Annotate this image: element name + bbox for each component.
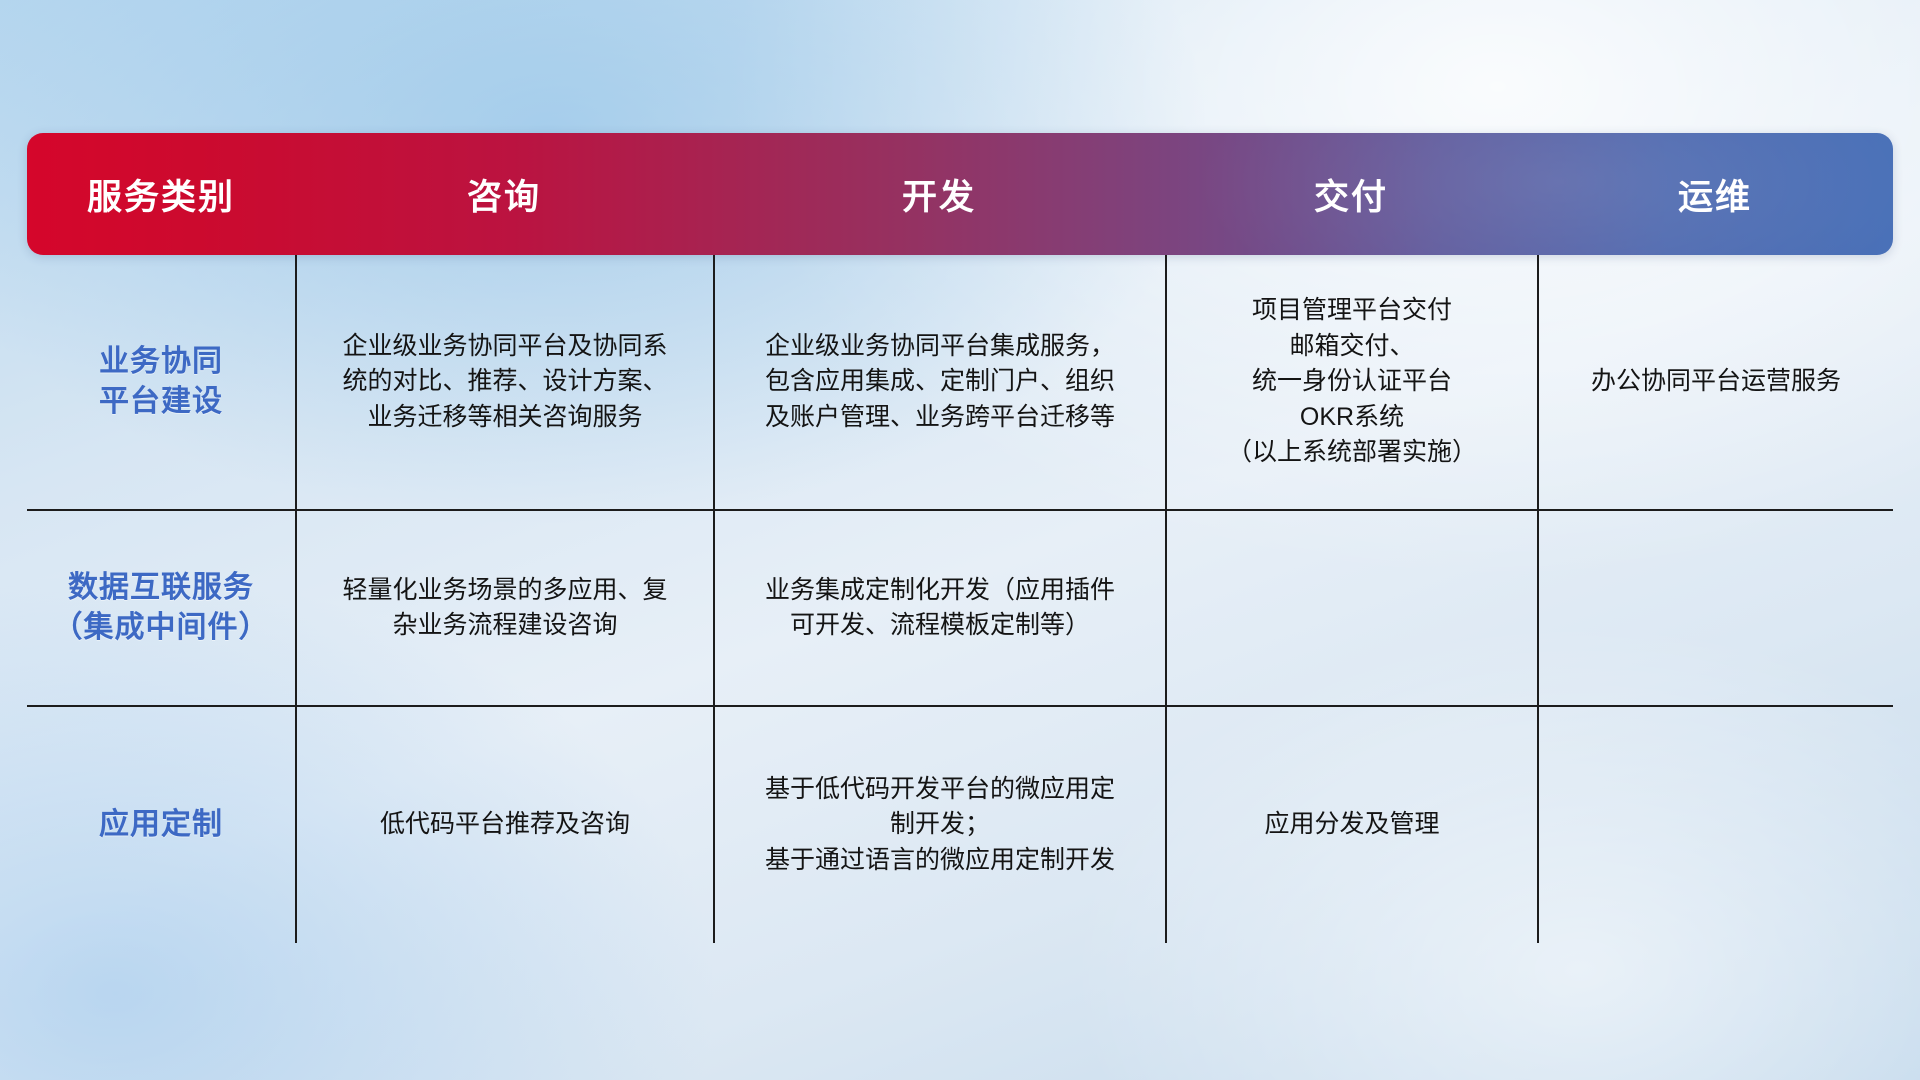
cell-text: 低代码平台推荐及咨询 [380, 807, 630, 843]
row-label-cell: 应用定制 [27, 707, 295, 943]
table-row: 业务协同 平台建设 企业级业务协同平台及协同系 统的对比、推荐、设计方案、 业务… [27, 255, 1893, 509]
header-label: 交付 [1314, 169, 1388, 220]
cell-operations [1537, 511, 1893, 705]
table-header-development: 开发 [713, 133, 1165, 255]
cell-delivery: 项目管理平台交付 邮箱交付、 统一身份认证平台 OKR系统 （以上系统部署实施） [1165, 255, 1537, 509]
cell-text: 轻量化业务场景的多应用、复 杂业务流程建设咨询 [342, 573, 667, 644]
header-label: 运维 [1678, 169, 1752, 220]
table-header-row: 服务类别 咨询 开发 交付 运维 [27, 133, 1893, 255]
cell-development: 业务集成定制化开发（应用插件 可开发、流程模板定制等） [713, 511, 1165, 705]
row-label-cell: 业务协同 平台建设 [27, 255, 295, 509]
cell-text: 应用分发及管理 [1264, 807, 1439, 843]
table-header-delivery: 交付 [1165, 133, 1537, 255]
header-label: 咨询 [467, 169, 541, 220]
cell-operations: 办公协同平台运营服务 [1537, 255, 1893, 509]
cell-text: 办公协同平台运营服务 [1591, 364, 1841, 400]
cell-development: 基于低代码开发平台的微应用定 制开发； 基于通过语言的微应用定制开发 [713, 707, 1165, 943]
table-row: 应用定制 低代码平台推荐及咨询 基于低代码开发平台的微应用定 制开发； 基于通过… [27, 705, 1893, 943]
cell-operations [1537, 707, 1893, 943]
cell-delivery: 应用分发及管理 [1165, 707, 1537, 943]
row-label: 数据互联服务 （集成中间件） [53, 568, 270, 647]
row-label: 应用定制 [99, 805, 223, 845]
header-label: 服务类别 [87, 169, 235, 220]
table-header-service-category: 服务类别 [27, 133, 295, 255]
row-label-cell: 数据互联服务 （集成中间件） [27, 511, 295, 705]
cell-consulting: 企业级业务协同平台及协同系 统的对比、推荐、设计方案、 业务迁移等相关咨询服务 [295, 255, 713, 509]
cell-text: 业务集成定制化开发（应用插件 可开发、流程模板定制等） [765, 573, 1115, 644]
cell-text: 企业级业务协同平台及协同系 统的对比、推荐、设计方案、 业务迁移等相关咨询服务 [342, 329, 667, 436]
header-label: 开发 [902, 169, 976, 220]
service-category-table: 服务类别 咨询 开发 交付 运维 业务协同 平台建设 [27, 133, 1893, 943]
table-header-operations: 运维 [1537, 133, 1893, 255]
cell-development: 企业级业务协同平台集成服务， 包含应用集成、定制门户、组织 及账户管理、业务跨平… [713, 255, 1165, 509]
cell-text: 项目管理平台交付 邮箱交付、 统一身份认证平台 OKR系统 （以上系统部署实施） [1227, 293, 1477, 471]
table-row: 数据互联服务 （集成中间件） 轻量化业务场景的多应用、复 杂业务流程建设咨询 业… [27, 509, 1893, 705]
cell-consulting: 轻量化业务场景的多应用、复 杂业务流程建设咨询 [295, 511, 713, 705]
slide-canvas: 服务类别 咨询 开发 交付 运维 业务协同 平台建设 [0, 0, 1920, 1080]
table-body: 业务协同 平台建设 企业级业务协同平台及协同系 统的对比、推荐、设计方案、 业务… [27, 255, 1893, 943]
cell-consulting: 低代码平台推荐及咨询 [295, 707, 713, 943]
row-label: 业务协同 平台建设 [99, 342, 223, 421]
table-header-consulting: 咨询 [295, 133, 713, 255]
cell-delivery [1165, 511, 1537, 705]
cell-text: 基于低代码开发平台的微应用定 制开发； 基于通过语言的微应用定制开发 [765, 772, 1115, 879]
cell-text: 企业级业务协同平台集成服务， 包含应用集成、定制门户、组织 及账户管理、业务跨平… [765, 329, 1115, 436]
